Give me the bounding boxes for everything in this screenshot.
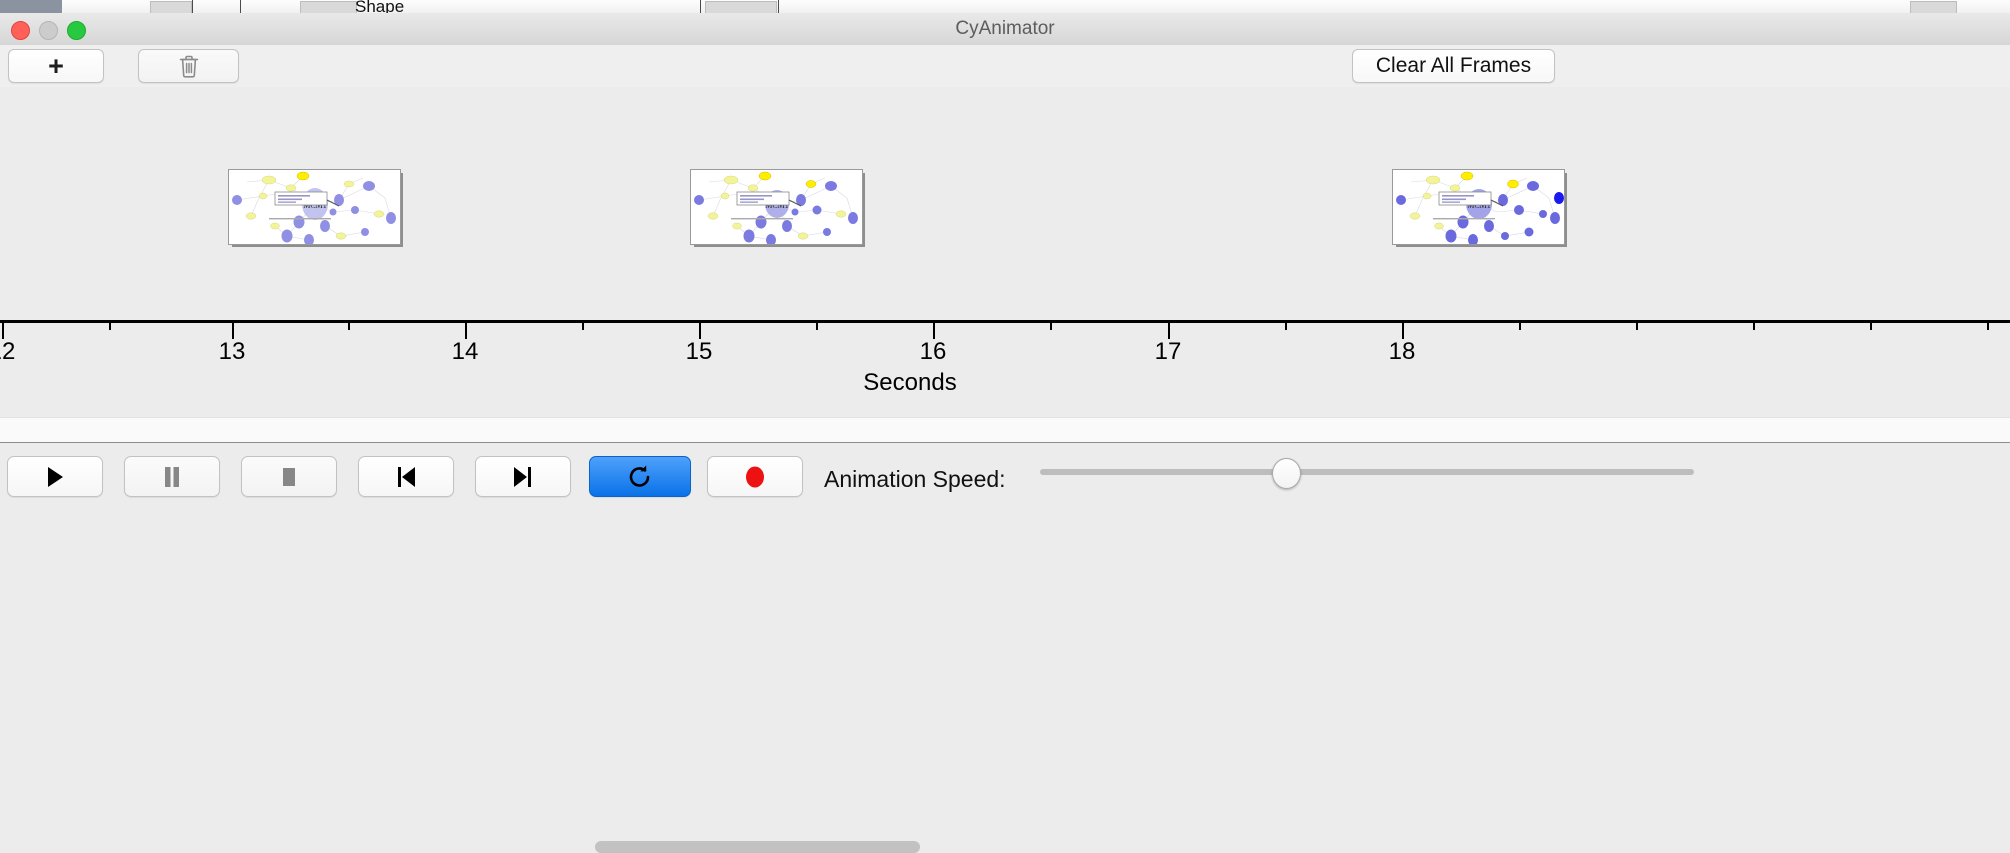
axis-tick-major xyxy=(1402,320,1404,339)
axis-tick-minor xyxy=(1285,320,1287,330)
network-graph: MCM1 xyxy=(691,170,862,244)
cyanimator-window: Shape CyAnimator + Clear All Frames xyxy=(0,0,2010,510)
trash-icon xyxy=(179,55,199,78)
axis-tick-minor xyxy=(1753,320,1755,330)
skip-back-icon xyxy=(395,466,417,488)
background-window-divider xyxy=(192,0,193,13)
timeline-frame-thumbnail[interactable]: MCM1 xyxy=(1392,169,1567,247)
network-graph: MCM1 xyxy=(229,170,400,244)
axis-tick-label: 14 xyxy=(452,338,479,366)
toolbar: + Clear All Frames xyxy=(0,45,2010,88)
pause-icon xyxy=(162,466,182,488)
timeline-frame-thumbnail[interactable]: MCM1 xyxy=(228,169,403,247)
axis-tick-minor xyxy=(1636,320,1638,330)
axis-tick-label: 18 xyxy=(1389,338,1416,366)
axis-tick-label: 12 xyxy=(0,338,15,366)
playback-control-bar: Animation Speed: xyxy=(0,442,2010,511)
axis-tick-minor xyxy=(348,320,350,330)
background-window-divider xyxy=(240,0,241,13)
plus-icon: + xyxy=(48,53,64,80)
timeline-axis-line xyxy=(0,320,2010,323)
loop-icon xyxy=(627,464,653,490)
record-button[interactable] xyxy=(707,456,803,497)
network-graph: MCM1 xyxy=(1393,170,1564,244)
clear-all-frames-label: Clear All Frames xyxy=(1376,54,1531,78)
background-window-divider xyxy=(700,0,701,13)
axis-tick-minor xyxy=(1870,320,1872,330)
record-icon xyxy=(743,465,767,489)
loop-button[interactable] xyxy=(589,456,691,497)
background-window-strip: Shape xyxy=(0,0,2010,14)
skip-back-button[interactable] xyxy=(358,456,454,497)
pause-button[interactable] xyxy=(124,456,220,497)
animation-speed-label: Animation Speed: xyxy=(824,466,1006,493)
delete-frame-button[interactable] xyxy=(138,49,239,83)
axis-title-seconds: Seconds xyxy=(863,369,956,397)
skip-forward-button[interactable] xyxy=(475,456,571,497)
axis-tick-minor xyxy=(816,320,818,330)
network-thumbnail-2: MCM1 xyxy=(690,169,863,245)
axis-tick-major xyxy=(699,320,701,339)
background-column-header-shape: Shape xyxy=(355,0,404,14)
axis-tick-major xyxy=(933,320,935,339)
axis-tick-major xyxy=(232,320,234,339)
axis-tick-major xyxy=(2,320,4,339)
axis-tick-label: 17 xyxy=(1155,338,1182,366)
network-thumbnail-3: MCM1 xyxy=(1392,169,1565,245)
add-frame-button[interactable]: + xyxy=(8,49,104,83)
window-title: CyAnimator xyxy=(0,13,2010,45)
timeline-scrollbar-track[interactable] xyxy=(0,417,2010,443)
timeline-frame-thumbnail[interactable]: MCM1 xyxy=(690,169,865,247)
axis-tick-label: 13 xyxy=(219,338,246,366)
clear-all-frames-button[interactable]: Clear All Frames xyxy=(1352,49,1555,83)
stop-button[interactable] xyxy=(241,456,337,497)
play-button[interactable] xyxy=(7,456,103,497)
timeline-panel[interactable]: MCM1 xyxy=(0,87,2010,320)
play-icon xyxy=(45,466,65,488)
background-window-divider xyxy=(778,0,779,13)
animation-speed-slider-track[interactable] xyxy=(1040,469,1694,475)
axis-tick-minor xyxy=(1987,320,1989,330)
axis-tick-label: 15 xyxy=(686,338,713,366)
background-window-dark-segment xyxy=(0,0,62,13)
axis-tick-major xyxy=(1168,320,1170,339)
axis-tick-label: 16 xyxy=(920,338,947,366)
animation-speed-slider-thumb[interactable] xyxy=(1272,458,1301,489)
axis-tick-major xyxy=(465,320,467,339)
axis-tick-minor xyxy=(1050,320,1052,330)
axis-tick-minor xyxy=(582,320,584,330)
title-bar: CyAnimator xyxy=(0,13,2010,46)
axis-tick-minor xyxy=(109,320,111,330)
stop-icon xyxy=(279,466,299,488)
axis-tick-minor xyxy=(1519,320,1521,330)
skip-forward-icon xyxy=(512,466,534,488)
timeline-scrollbar-thumb[interactable] xyxy=(595,841,920,853)
network-thumbnail-1: MCM1 xyxy=(228,169,401,245)
